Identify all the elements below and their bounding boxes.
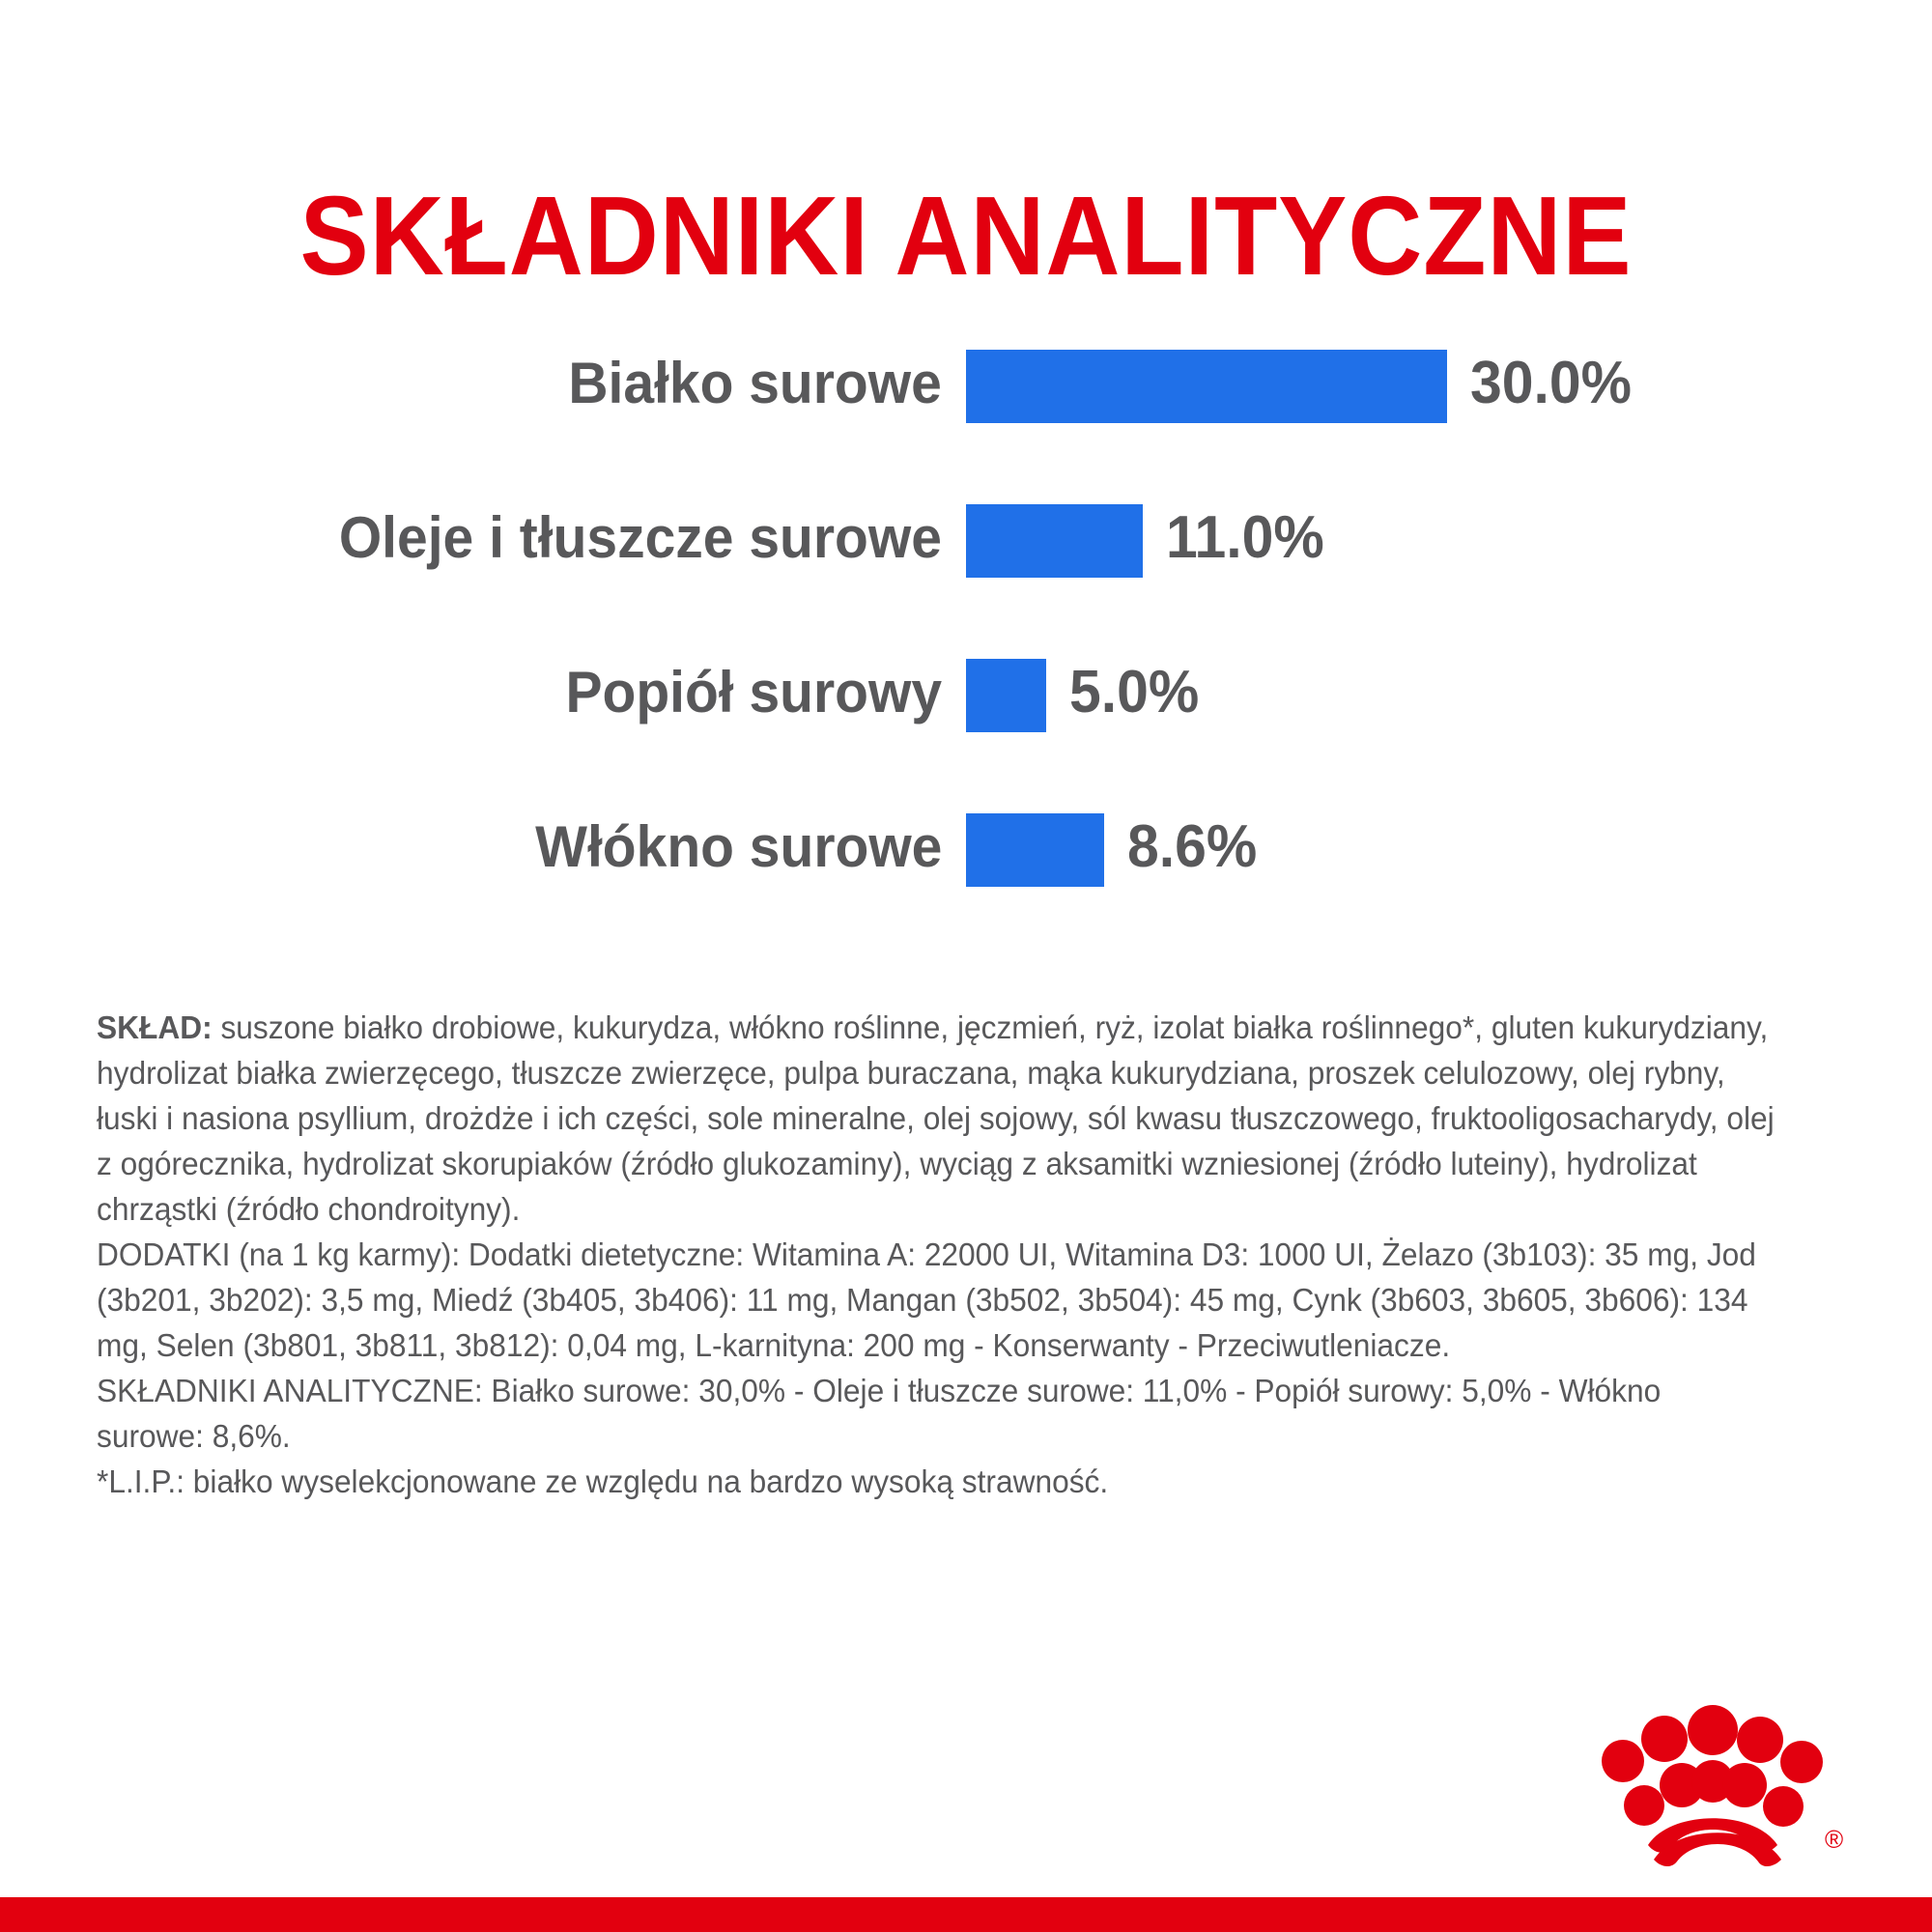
composition-footnote-paragraph: *L.I.P.: białko wyselekcjonowane ze wzgl…: [97, 1459, 1776, 1504]
registered-trademark-mark: ®: [1825, 1825, 1843, 1854]
composition-additives-paragraph: DODATKI (na 1 kg karmy): Dodatki dietety…: [97, 1232, 1776, 1368]
chart-value-label: 30.0%: [1470, 343, 1632, 424]
composition-ingredients-paragraph: SKŁAD: suszone białko drobiowe, kukurydz…: [97, 1005, 1776, 1232]
chart-bar: [966, 350, 1447, 423]
chart-category-label: Włókno surowe: [535, 807, 942, 888]
chart-value-label: 8.6%: [1127, 807, 1257, 888]
chart-row: Popiół surowy 5.0%: [0, 652, 1932, 807]
nutrition-label-page: SKŁADNIKI ANALITYCZNE Białko surowe 30.0…: [0, 0, 1932, 1932]
chart-bar: [966, 659, 1046, 732]
chart-bar: [966, 813, 1104, 887]
bar-track: [966, 350, 1447, 423]
chart-row: Włókno surowe 8.6%: [0, 807, 1932, 961]
composition-text-block: SKŁAD: suszone białko drobiowe, kukurydz…: [97, 1005, 1776, 1504]
analytical-constituents-chart: Białko surowe 30.0% Oleje i tłuszcze sur…: [0, 343, 1932, 961]
bottom-accent-bar: [0, 1897, 1932, 1932]
chart-category-label: Popiół surowy: [565, 652, 942, 733]
composition-sklad-label: SKŁAD:: [97, 1009, 213, 1045]
bar-track: [966, 504, 1143, 578]
chart-value-label: 5.0%: [1069, 652, 1199, 733]
chart-category-label: Oleje i tłuszcze surowe: [339, 497, 942, 579]
bar-track: [966, 659, 1046, 732]
chart-value-label: 11.0%: [1166, 497, 1324, 579]
chart-row: Oleje i tłuszcze surowe 11.0%: [0, 497, 1932, 652]
bar-track: [966, 813, 1104, 887]
chart-bar: [966, 504, 1143, 578]
chart-row: Białko surowe 30.0%: [0, 343, 1932, 497]
composition-analytical-paragraph: SKŁADNIKI ANALITYCZNE: Białko surowe: 30…: [97, 1368, 1776, 1459]
page-title: SKŁADNIKI ANALITYCZNE: [77, 180, 1855, 292]
composition-sklad-text: suszone białko drobiowe, kukurydza, włók…: [97, 1009, 1775, 1227]
chart-category-label: Białko surowe: [569, 343, 942, 424]
royal-canin-crown-logo: ®: [1584, 1700, 1855, 1874]
